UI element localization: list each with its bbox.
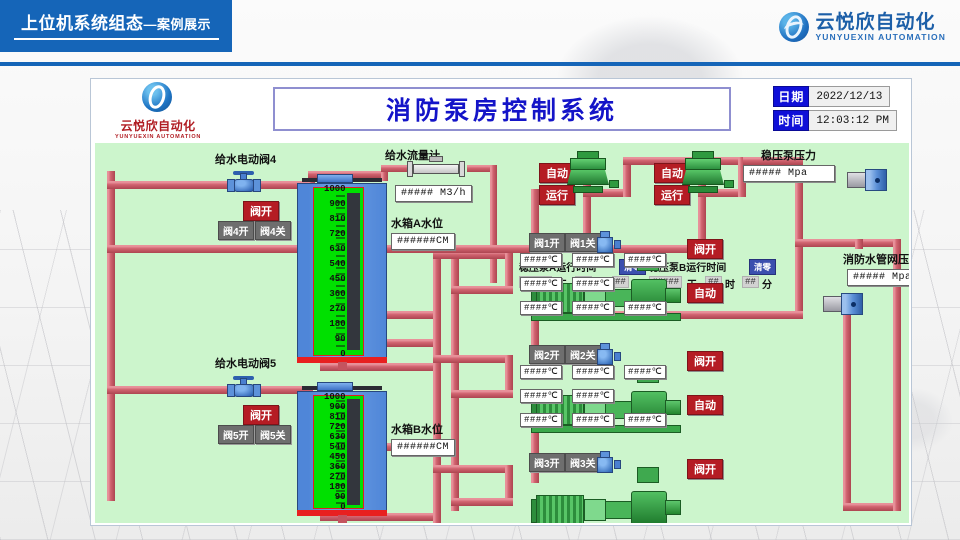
tank-b-scale-tick: 270 (315, 473, 346, 482)
pressure-sensor-2-icon (823, 293, 863, 315)
pipe-sensor1-drop (855, 239, 863, 249)
pipe-to-valve5 (107, 386, 229, 394)
pump2-temp-7: ####℃ (572, 413, 614, 427)
hmi-logo-en: YUNYUEXIN AUTOMATION (115, 134, 201, 140)
tank-b-scale-tick: 630 (315, 433, 346, 442)
pump1-temp-1: ####℃ (520, 253, 562, 267)
pump2-valve-status: 阀开 (687, 351, 723, 371)
stab-pump-b-hours-unit: 时 (725, 276, 735, 291)
tank-b-level-label: 水箱B水位 (391, 421, 443, 437)
pipe-flow-down (490, 165, 497, 283)
company-name-cn: 云悦欣自动化 (816, 13, 946, 33)
pipe-branch2-bot (451, 390, 513, 398)
hmi-title: 消防泵房控制系统 (386, 91, 618, 127)
pipe-branch3-top (433, 465, 513, 473)
tank-b-scale: 1000 900 810 720 630 540 450 360 270 180… (315, 393, 346, 512)
time-label: 时间 (773, 110, 809, 131)
pump1-temp-7: ####℃ (572, 301, 614, 315)
pump2-temp-8: ####℃ (624, 413, 666, 427)
pipe-left-riser (107, 171, 115, 501)
company-name-en: YUNYUEXIN AUTOMATION (816, 33, 946, 42)
pump1-temp-4: ####℃ (520, 277, 562, 291)
valve4-label: 给水电动阀4 (215, 151, 276, 167)
pipe-branch1-bot (451, 286, 513, 294)
pressure-sensor-1-icon (847, 169, 887, 191)
tank-a-scale-tick: 540 (315, 260, 346, 269)
valve5-status: 阀开 (243, 405, 279, 425)
pump2-temp-5: ####℃ (572, 389, 614, 403)
valve5-open-button[interactable]: 阀5开 (218, 425, 254, 444)
pump2-temp-2: ####℃ (572, 365, 614, 379)
tank-b: 1000 900 810 720 630 540 450 360 270 180… (297, 391, 387, 516)
tank-a-scale-tick: 1000 (315, 185, 346, 194)
page-title-main: 上位机系统组态 (21, 14, 144, 33)
pipe-riser-a (433, 251, 441, 523)
page-title: 上位机系统组态—案例展示 (14, 9, 219, 34)
tank-b-scale-tick: 720 (315, 423, 346, 432)
pump2-temp-4: ####℃ (520, 389, 562, 403)
header-divider (0, 62, 960, 66)
tank-b-scale-tick: 180 (315, 483, 346, 492)
tank-b-scale-tick: 90 (315, 493, 346, 502)
valve4-close-button[interactable]: 阀4关 (255, 221, 291, 240)
pipe-sensor1-run (795, 239, 901, 247)
pump1-temp-3: ####℃ (624, 253, 666, 267)
valve5-close-button[interactable]: 阀5关 (255, 425, 291, 444)
tank-b-scale-tick: 900 (315, 403, 346, 412)
pump1-temp-5: ####℃ (572, 277, 614, 291)
tank-a-level-label: 水箱A水位 (391, 215, 443, 231)
pump3-valve-status: 阀开 (687, 459, 723, 479)
tank-a: 1000 900 810 720 630 540 450 360 270 180… (297, 183, 387, 363)
valve2-open-button[interactable]: 阀2开 (529, 345, 565, 364)
valve4-status: 阀开 (243, 201, 279, 221)
tank-a-scale-tick: 810 (315, 215, 346, 224)
pipe-flow-left (381, 165, 407, 172)
pump1-temp-8: ####℃ (624, 301, 666, 315)
network-pressure-value: ##### Mpa (847, 269, 909, 286)
valve3-open-button[interactable]: 阀3开 (529, 453, 565, 472)
fire-pump-3-icon (531, 473, 681, 523)
header-underline (14, 38, 219, 40)
valve4-icon[interactable] (227, 173, 261, 193)
tank-b-scale-tick: 450 (315, 453, 346, 462)
tank-b-scale-tick: 540 (315, 443, 346, 452)
company-brand: 云悦欣自动化 YUNYUEXIN AUTOMATION (779, 12, 946, 42)
hmi-logo-icon (134, 82, 182, 116)
pump1-temp-2: ####℃ (572, 253, 614, 267)
tank-a-scale-tick: 900 (315, 200, 346, 209)
stab-pressure-label: 稳压泵压力 (761, 147, 816, 163)
stab-pump-b-minutes: ## (742, 276, 759, 288)
pipe-up-flow (381, 171, 388, 181)
hmi-screen: 云悦欣自动化 YUNYUEXIN AUTOMATION 消防泵房控制系统 日期 … (90, 78, 912, 526)
header-tab: 上位机系统组态—案例展示 (0, 0, 232, 52)
valve5-label: 给水电动阀5 (215, 355, 276, 371)
pipe-branch3-bot (451, 498, 513, 506)
tank-a-scale: 1000 900 810 720 630 540 450 360 270 180… (315, 185, 346, 359)
tank-a-scale-tick: 180 (315, 320, 346, 329)
pump2-temp-3: ####℃ (624, 365, 666, 379)
valve4-open-button[interactable]: 阀4开 (218, 221, 254, 240)
hmi-title-box: 消防泵房控制系统 (273, 87, 731, 131)
pipe-to-valve4 (107, 181, 229, 189)
tank-b-scale-tick: 360 (315, 463, 346, 472)
page-title-sub: —案例展示 (143, 17, 211, 32)
network-pressure-label: 消防水管网压力 (843, 251, 909, 267)
tank-a-scale-tick: 270 (315, 305, 346, 314)
stab-pump-b-minutes-unit: 分 (762, 276, 772, 291)
tank-a-scale-tick: 360 (315, 290, 346, 299)
valve5-icon[interactable] (227, 378, 261, 398)
pump1-temp-6: ####℃ (520, 301, 562, 315)
valve1-open-button[interactable]: 阀1开 (529, 233, 565, 252)
pump1-valve-status: 阀开 (687, 239, 723, 259)
stab-pump-b-reset-button[interactable]: 清零 (749, 259, 776, 275)
tank-a-scale-tick: 90 (315, 335, 346, 344)
stab-pressure-value: ##### Mpa (743, 165, 835, 182)
stab-pump-b-icon (680, 151, 726, 193)
time-row: 时间 12:03:12 PM (773, 110, 897, 131)
pipe-far-right-riser (843, 311, 851, 511)
datetime-panel: 日期 2022/12/13 时间 12:03:12 PM (773, 86, 897, 134)
tank-b-scale-tick: 1000 (315, 393, 346, 402)
flowmeter-value: ##### M3/h (395, 185, 472, 202)
pump2-mode: 自动 (687, 395, 723, 415)
stab-pump-a-icon (565, 151, 611, 193)
tank-a-level-value: ######CM (391, 233, 455, 250)
pump2-temp-1: ####℃ (520, 365, 562, 379)
pump2-temp-6: ####℃ (520, 413, 562, 427)
date-row: 日期 2022/12/13 (773, 86, 897, 107)
hmi-logo: 云悦欣自动化 YUNYUEXIN AUTOMATION (115, 82, 201, 140)
flowmeter-icon (407, 161, 465, 177)
time-value: 12:03:12 PM (809, 110, 897, 131)
mimic-diagram: 给水电动阀4 阀开 阀4开 阀4关 1000 900 810 720 630 5… (95, 143, 909, 523)
tank-b-scale-tick: 810 (315, 413, 346, 422)
hmi-logo-cn: 云悦欣自动化 (115, 117, 201, 134)
date-value: 2022/12/13 (809, 86, 890, 107)
pump1-mode: 自动 (687, 283, 723, 303)
company-logo-icon (779, 12, 809, 42)
pipe-branch2-top (433, 355, 513, 363)
tank-a-scale-tick: 450 (315, 275, 346, 284)
hmi-header: 云悦欣自动化 YUNYUEXIN AUTOMATION 消防泵房控制系统 日期 … (91, 79, 911, 143)
tank-a-scale-tick: 720 (315, 230, 346, 239)
date-label: 日期 (773, 86, 809, 107)
tank-a-scale-tick: 630 (315, 245, 346, 254)
tank-b-level-value: ######CM (391, 439, 455, 456)
